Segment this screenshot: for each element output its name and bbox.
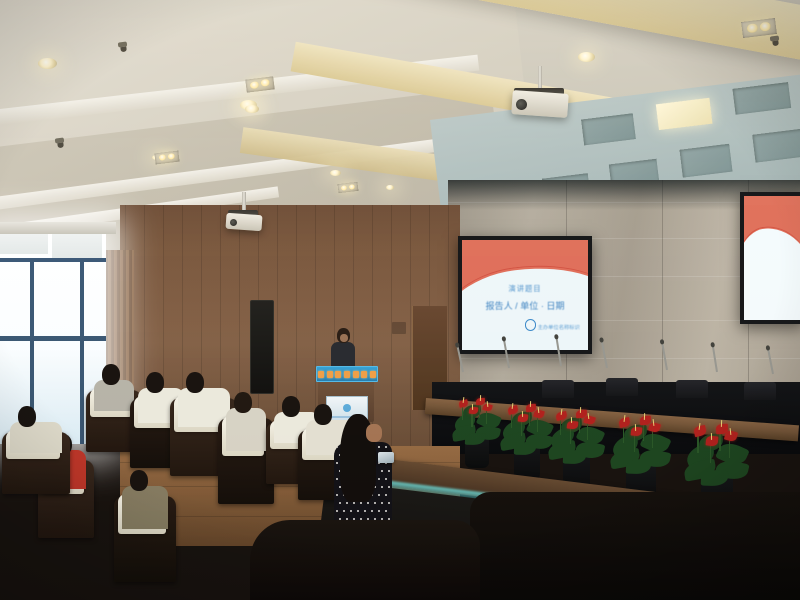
anthurium-plant-4-stem-2 (643, 423, 644, 441)
coffer-cell-8 (732, 82, 791, 115)
lectern-banner-icon (370, 371, 376, 378)
presenter-face (340, 334, 348, 342)
window-mullion-vertical-2 (80, 258, 84, 444)
anthurium-plant-2-stem-2 (529, 410, 530, 426)
wood-grain-line (410, 205, 411, 455)
window-header-trim (0, 222, 116, 234)
dress-dot (336, 510, 338, 512)
window-blind-left[interactable] (0, 232, 48, 254)
slide-subtitle: 报告人 / 单位 · 日期 (462, 298, 588, 312)
downlight-7 (386, 185, 394, 190)
loudspeaker-column (250, 300, 274, 394)
presenter-torso (331, 342, 355, 368)
dress-dot (360, 502, 362, 504)
slide-logo-icon (525, 319, 536, 330)
sprinkler-head-3 (770, 35, 780, 41)
lectern-graphic-dot (343, 404, 351, 412)
dress-dot (339, 502, 341, 504)
downlight-5 (330, 170, 341, 176)
slide-swoosh-accent (744, 221, 800, 320)
dress-dot (357, 510, 359, 512)
attendee-9-torso (10, 422, 62, 453)
anthurium-plant-2-stem-4 (537, 416, 538, 432)
dress-dot (336, 494, 338, 496)
attendee-4-torso (226, 408, 266, 451)
downlight-4 (578, 52, 595, 62)
lectern-banner-icon (318, 371, 324, 378)
anthurium-plant-4-stem-3 (634, 434, 635, 452)
dress-dot (381, 486, 383, 488)
window-mullion-horizontal-mid (0, 336, 106, 341)
ceiling-projector-main-lens (516, 99, 527, 110)
dress-dot (378, 478, 380, 480)
coffer-cell-5 (752, 129, 800, 163)
anthurium-plant-1-stem-3 (471, 413, 472, 428)
slide-title: 演讲题目 (462, 284, 588, 294)
dress-dot (378, 494, 380, 496)
dress-dot (353, 502, 355, 504)
dais-chair-1[interactable] (542, 380, 574, 398)
projection-screen-secondary[interactable] (744, 196, 800, 320)
anthurium-plant-5-bloom-4 (724, 430, 738, 443)
anthurium-plant-3-stem-3 (570, 427, 571, 444)
anthurium-plant-5-stem-1 (697, 434, 698, 454)
foreground-chair-2 (250, 520, 480, 600)
anthurium-plant-1-stem-4 (486, 409, 487, 424)
lectern-banner-icon (344, 371, 350, 378)
dress-dot (343, 510, 345, 512)
anthurium-plant-2-stem-3 (521, 420, 522, 436)
dress-dot (381, 470, 383, 472)
dress-dot (374, 502, 376, 504)
dress-dot (388, 470, 390, 472)
dais-chair-2[interactable] (606, 378, 638, 396)
downlight-3 (245, 105, 259, 113)
anthurium-plant-4-bloom-4 (648, 422, 661, 434)
attendee-1-head (102, 364, 120, 385)
anthurium-plant-4-stem-1 (623, 425, 624, 443)
wall-plaque (392, 322, 406, 334)
dress-dot (378, 510, 380, 512)
dress-dot (346, 502, 348, 504)
anthurium-plant-3-stem-4 (587, 423, 588, 440)
coffer-cell-4 (679, 144, 732, 178)
conference-hall-photo: 演讲题目报告人 / 单位 · 日期主办单位名称标识 (0, 0, 800, 600)
dress-dot (336, 446, 338, 448)
dress-dot (336, 478, 338, 480)
anthurium-plant-4-stem-4 (652, 430, 653, 448)
sprinkler-head-2 (55, 137, 65, 143)
window-blind-right[interactable] (52, 232, 102, 258)
attendee-8-head (130, 470, 148, 491)
projection-screen-main[interactable]: 演讲题目报告人 / 单位 · 日期主办单位名称标识 (462, 240, 588, 350)
lectern-banner-icon (327, 371, 333, 378)
attendee-9-head (18, 406, 36, 427)
window-mullion-horizontal-top (0, 258, 106, 262)
slide-logo-text: 主办单位名称标识 (538, 323, 580, 331)
anthurium-plant-5-stem-4 (729, 439, 730, 459)
dais-chair-3[interactable] (676, 380, 708, 398)
dress-dot (364, 510, 366, 512)
sprinkler-head-1 (118, 41, 128, 47)
dress-dot (385, 478, 387, 480)
dress-dot (350, 510, 352, 512)
foreground-chair (470, 492, 800, 600)
dress-dot (367, 502, 369, 504)
downlight-1 (38, 58, 57, 69)
dress-dot (336, 462, 338, 464)
attendee-4-head (234, 392, 252, 413)
anthurium-plant-1-spadix-2 (479, 395, 481, 401)
dais-chair-4[interactable] (744, 382, 776, 400)
lectern-banner (316, 366, 378, 382)
anthurium-plant-1-stem-2 (479, 404, 480, 419)
anthurium-plant-3-bloom-4 (583, 415, 595, 426)
attendee-8-torso (122, 486, 168, 529)
dress-dot (378, 446, 380, 448)
attendee-2-head (146, 372, 164, 393)
anthurium-plant-3-stem-1 (560, 418, 561, 435)
anthurium-plant-1-stem-1 (462, 405, 463, 420)
smartphone[interactable] (378, 452, 394, 463)
dress-dot (385, 446, 387, 448)
dress-dot (385, 494, 387, 496)
lectern-banner-icon (335, 371, 341, 378)
dress-dot (371, 510, 373, 512)
dress-dot (381, 502, 383, 504)
attendee-5-head (282, 396, 300, 417)
anthurium-plant-5-stem-2 (719, 431, 720, 451)
dress-dot (388, 502, 390, 504)
anthurium-plant-3-stem-2 (579, 416, 580, 433)
attendee-face (366, 424, 382, 442)
attendee-3-head (186, 372, 204, 393)
dress-dot (388, 486, 390, 488)
coffer-cell-7 (656, 98, 713, 130)
dress-dot (385, 510, 387, 512)
lectern-banner-icon (361, 371, 367, 378)
attendee-6-head (314, 404, 332, 425)
coffer-cell-6 (581, 113, 636, 145)
lectern-banner-icon (353, 371, 359, 378)
anthurium-plant-5-stem-3 (710, 444, 711, 464)
